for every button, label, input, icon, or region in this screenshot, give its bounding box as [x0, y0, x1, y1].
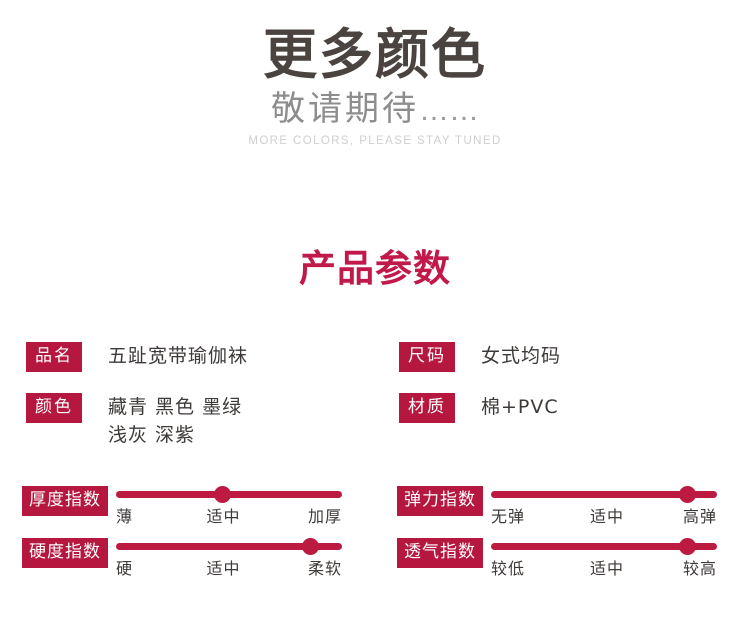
slider-knob[interactable] [679, 538, 696, 555]
header-block: 更多颜色 敬请期待…… MORE COLORS, PLEASE STAY TUN… [0, 0, 750, 147]
spec-table: 品名 五趾宽带瑜伽袜 颜色 藏青 黑色 墨绿 浅灰 深紫 尺码 女式均码 材质 … [0, 342, 750, 462]
page-title: 更多颜色 [0, 0, 750, 82]
slider-label-badge: 硬度指数 [22, 538, 108, 568]
slider-tick-labels: 无弹 适中 高弹 [491, 503, 717, 527]
slider-tick-labels: 薄 适中 加厚 [116, 503, 342, 527]
spec-value: 棉+PVC [481, 393, 559, 421]
subtitle-text: 敬请期待 [271, 90, 419, 128]
spec-value: 藏青 黑色 墨绿 浅灰 深紫 [108, 393, 242, 449]
slider-tick-low: 较低 [491, 555, 525, 579]
slider-column-left: 厚度指数 薄 适中 加厚 硬度指数 硬 适中 [22, 484, 342, 588]
slider-label-badge: 厚度指数 [22, 486, 108, 516]
slider-label-badge: 弹力指数 [397, 486, 483, 516]
slider-tick-high: 柔软 [308, 555, 342, 579]
spec-column-left: 品名 五趾宽带瑜伽袜 颜色 藏青 黑色 墨绿 浅灰 深紫 [26, 342, 248, 470]
spec-row: 颜色 藏青 黑色 墨绿 浅灰 深紫 [26, 393, 248, 449]
slider-track[interactable] [491, 491, 717, 498]
spec-label-badge: 材质 [399, 393, 455, 423]
spec-label-badge: 尺码 [399, 342, 455, 372]
spec-column-right: 尺码 女式均码 材质 棉+PVC [399, 342, 561, 444]
slider-knob[interactable] [214, 486, 231, 503]
page-subtitle: 敬请期待…… [0, 82, 750, 129]
subtitle-dots: …… [419, 94, 479, 127]
page-subtitle-english: MORE COLORS, PLEASE STAY TUNED [0, 129, 750, 147]
slider-tick-high: 加厚 [308, 503, 342, 527]
spec-row: 品名 五趾宽带瑜伽袜 [26, 342, 248, 372]
spec-label-badge: 品名 [26, 342, 82, 372]
slider-row-elasticity: 弹力指数 无弹 适中 高弹 [397, 484, 717, 522]
slider-body: 较低 适中 较高 [491, 536, 717, 579]
slider-tick-high: 高弹 [683, 503, 717, 527]
slider-body: 无弹 适中 高弹 [491, 484, 717, 527]
slider-knob[interactable] [679, 486, 696, 503]
slider-tick-low: 薄 [116, 503, 133, 527]
slider-body: 薄 适中 加厚 [116, 484, 342, 527]
slider-tick-high: 较高 [683, 555, 717, 579]
slider-row-hardness: 硬度指数 硬 适中 柔软 [22, 536, 342, 574]
slider-tick-low: 无弹 [491, 503, 525, 527]
slider-tick-low: 硬 [116, 555, 133, 579]
slider-tick-mid: 适中 [206, 555, 240, 579]
spec-label-badge: 颜色 [26, 393, 82, 423]
slider-label-badge: 透气指数 [397, 538, 483, 568]
spec-value: 女式均码 [481, 342, 561, 370]
slider-knob[interactable] [302, 538, 319, 555]
slider-tick-mid: 适中 [590, 503, 624, 527]
slider-track[interactable] [491, 543, 717, 550]
slider-tick-mid: 适中 [590, 555, 624, 579]
slider-tick-mid: 适中 [206, 503, 240, 527]
slider-body: 硬 适中 柔软 [116, 536, 342, 579]
slider-row-breathability: 透气指数 较低 适中 较高 [397, 536, 717, 574]
spec-row: 材质 棉+PVC [399, 393, 561, 423]
slider-tick-labels: 硬 适中 柔软 [116, 555, 342, 579]
spec-value: 五趾宽带瑜伽袜 [108, 342, 248, 370]
slider-row-thickness: 厚度指数 薄 适中 加厚 [22, 484, 342, 522]
slider-tick-labels: 较低 适中 较高 [491, 555, 717, 579]
slider-column-right: 弹力指数 无弹 适中 高弹 透气指数 较低 适中 [397, 484, 717, 588]
slider-track[interactable] [116, 491, 342, 498]
spec-row: 尺码 女式均码 [399, 342, 561, 372]
slider-track[interactable] [116, 543, 342, 550]
section-title: 产品参数 [0, 238, 750, 292]
